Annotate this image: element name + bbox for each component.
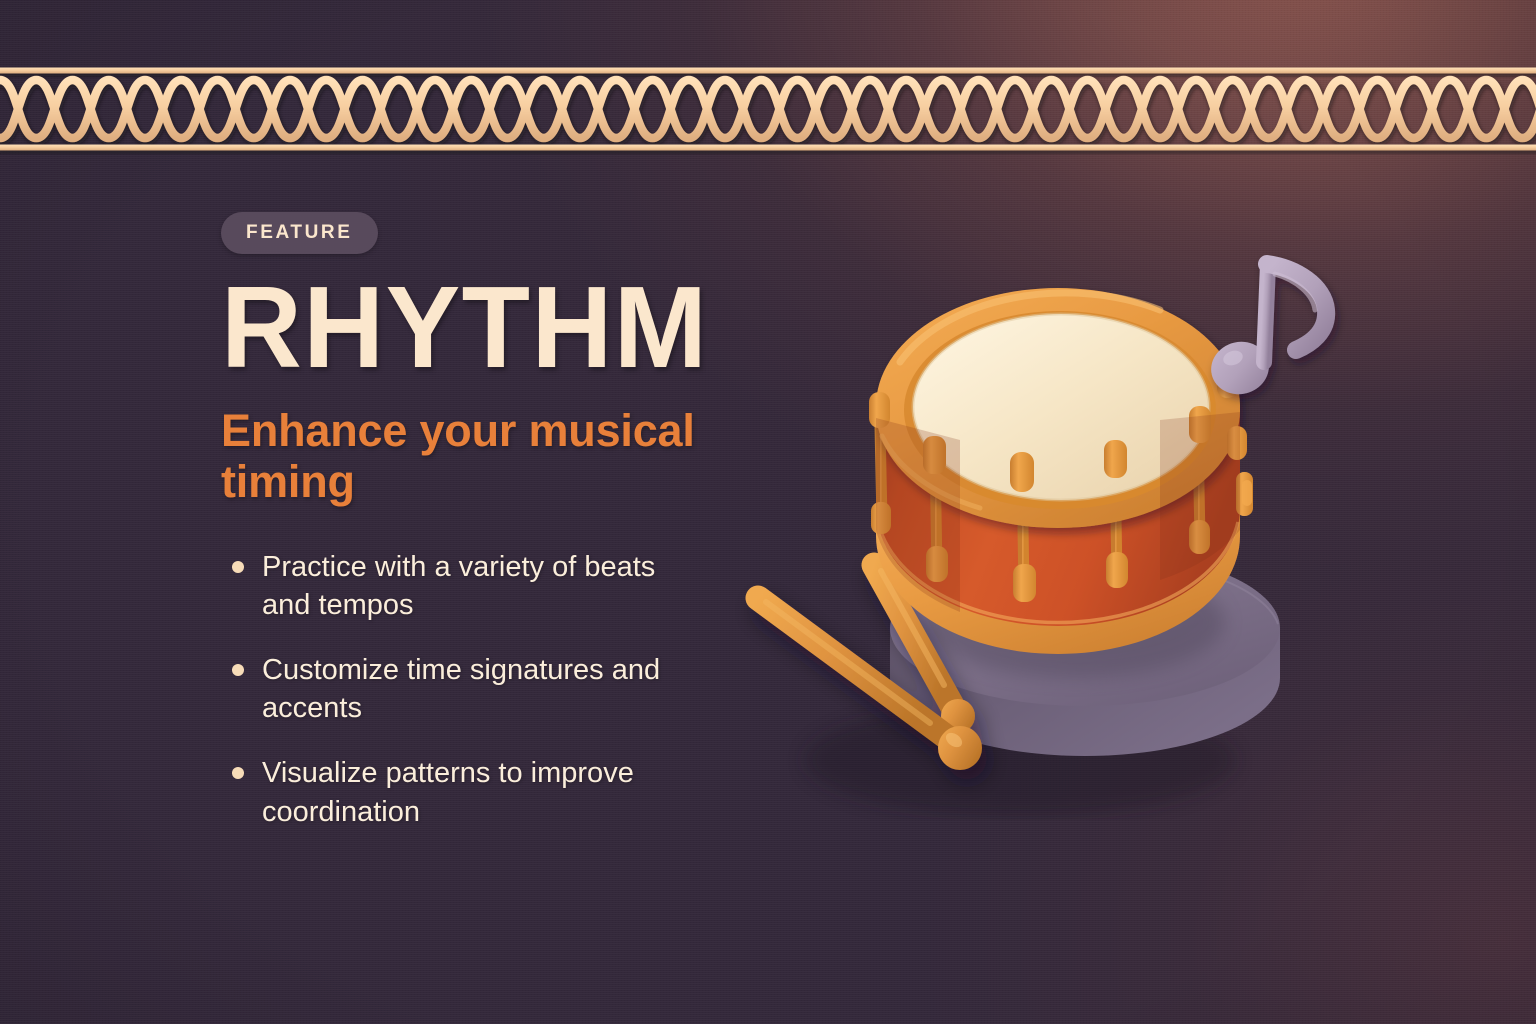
feature-badge: FEATURE [221, 212, 378, 254]
bullet-dot-icon [232, 561, 244, 573]
list-item-label: Practice with a variety of beats and tem… [262, 551, 655, 622]
band-bottom-rule [0, 145, 1536, 151]
bullet-dot-icon [232, 767, 244, 779]
list-item: Visualize patterns to improve coordinati… [221, 754, 701, 831]
list-item-label: Customize time signatures and accents [262, 654, 660, 725]
bullet-dot-icon [232, 664, 244, 676]
top-decorative-band [0, 0, 1536, 160]
subtitle: Enhance your musical timing [221, 406, 761, 508]
list-item: Practice with a variety of beats and tem… [221, 548, 701, 625]
list-item: Customize time signatures and accents [221, 651, 701, 728]
snare-drum-illustration [730, 240, 1350, 820]
banner-canvas: FEATURE RHYTHM Enhance your musical timi… [0, 0, 1536, 1024]
snare-drum-body [869, 288, 1253, 654]
list-item-label: Visualize patterns to improve coordinati… [262, 757, 634, 828]
eighth-note-icon [1206, 264, 1327, 400]
band-top-rule [0, 68, 1536, 74]
